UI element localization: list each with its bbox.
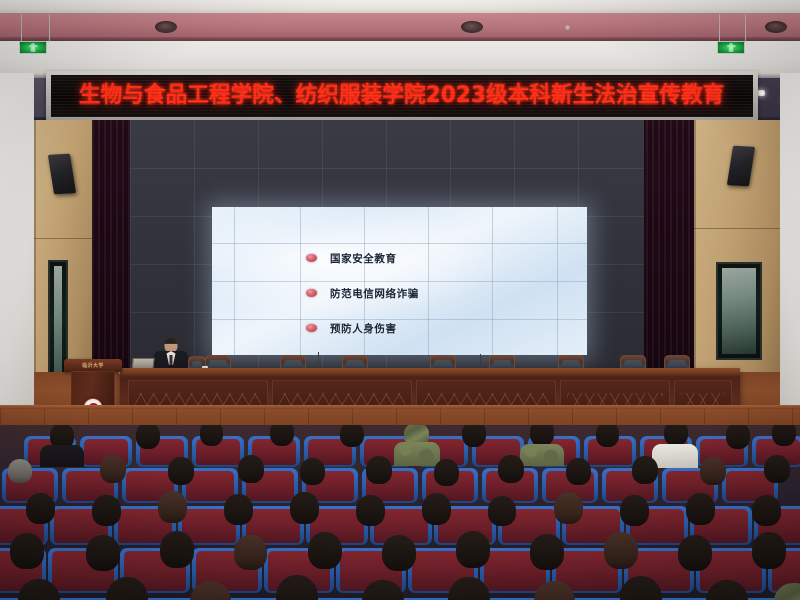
slide-bullet-item: 防范电信网络诈骗 [306,280,556,306]
audience-head [10,533,44,569]
audience-head [726,425,750,449]
audience-head [100,455,126,483]
audience-head [700,457,726,485]
audience-head [270,425,294,446]
audience-torso-camo [394,442,440,466]
audience-head [92,495,121,526]
led-banner-frame: 生物与食品工程学院、纺织服装学院2023级本科新生法治宣传教育 [46,71,758,121]
videowall-seam [212,243,587,244]
slide-bullet-label: 防范电信网络诈骗 [330,286,419,301]
audience-head [498,455,524,483]
desk-surface [120,368,740,376]
audience-head [234,535,267,570]
audience-torso [652,444,698,468]
audience-head [604,532,638,569]
audience-head [160,531,194,568]
slide-bullet-label: 国家安全教育 [330,251,397,266]
audience-head [26,493,55,524]
audience-head [462,425,486,447]
stage-side-window-right [716,262,762,360]
audience-head [168,457,194,485]
backdrop-seam [130,168,644,169]
audience-head [530,425,554,446]
audience-head [456,531,490,568]
audience-torso-camo [520,444,564,466]
audience-head [366,456,392,484]
ceiling-lower-band [0,41,800,73]
audience-head [632,456,658,484]
audience-head [86,535,120,571]
ceiling-downlight [155,21,177,33]
slide-bullet-label: 预防人身伤害 [330,321,397,336]
led-banner-text: 生物与食品工程学院、纺织服装学院2023级本科新生法治宣传教育 [79,85,724,107]
audience-head [382,535,416,571]
audience-head [308,532,342,569]
stage-spotlight [757,90,765,96]
audience-head [300,458,325,485]
exit-sign-left [19,41,47,54]
audience-head [686,493,715,525]
podium-title-text: 临沂大学 [82,362,104,369]
ceiling-downlight [461,21,483,33]
audience-head [620,495,649,526]
audience-head [8,459,32,483]
exit-sign-right [717,41,745,54]
exit-sign-rod [719,14,720,42]
running-man-icon [727,43,736,52]
auditorium-photo: 生物与食品工程学院、纺织服装学院2023级本科新生法治宣传教育 [0,0,800,600]
exit-sign-rod [49,14,50,42]
audience-head [136,425,160,449]
wall-speaker-left [48,154,76,195]
slide-bullet-item: 预防人身伤害 [306,315,556,341]
audience-head [340,425,364,447]
audience-head [200,425,223,446]
audience-head [752,495,781,526]
audience-head [772,425,796,446]
running-man-icon [29,43,38,52]
exit-sign-glow [20,42,46,53]
presentation-video-wall: 国家安全教育 防范电信网络诈骗 预防人身伤害 [212,207,587,355]
audience-head [422,493,451,525]
audience-head [596,425,619,447]
audience-head [238,455,264,483]
ceiling-downlight [765,21,787,33]
audience-head [290,492,319,524]
bullet-dot-icon [306,289,317,297]
audience-torso [40,445,84,467]
audience-head [752,532,786,569]
speaker-tie [170,355,173,365]
audience-seating [0,425,800,600]
audience-head [664,425,688,446]
wood-seam [34,238,92,239]
backdrop-seam [194,120,195,372]
ceiling-accent-band [0,13,800,41]
audience-head [224,494,253,525]
audience-head [678,535,712,571]
wood-seam [694,228,780,229]
wall-speaker-right [727,146,755,187]
ceiling-sensor-dot [565,25,570,30]
slide-bullet-item: 国家安全教育 [306,245,556,271]
audience-head [158,491,187,523]
audience-head [554,492,583,524]
exit-sign-glow [718,42,744,53]
slide-bullet-list: 国家安全教育 防范电信网络诈骗 预防人身伤害 [306,245,556,350]
exit-sign-rod [745,14,746,42]
audience-head [356,495,385,526]
ceiling-upper-soffit [0,0,800,14]
audience-head [566,458,591,485]
door-glass [722,268,756,354]
audience-head [434,459,459,486]
audience-head [488,496,516,526]
exit-sign-rod [21,14,22,42]
audience-head [530,534,564,570]
audience-head [764,455,790,483]
led-banner-screen: 生物与食品工程学院、纺织服装学院2023级本科新生法治宣传教育 [51,75,753,117]
bullet-dot-icon [306,254,317,262]
bullet-dot-icon [306,324,317,332]
